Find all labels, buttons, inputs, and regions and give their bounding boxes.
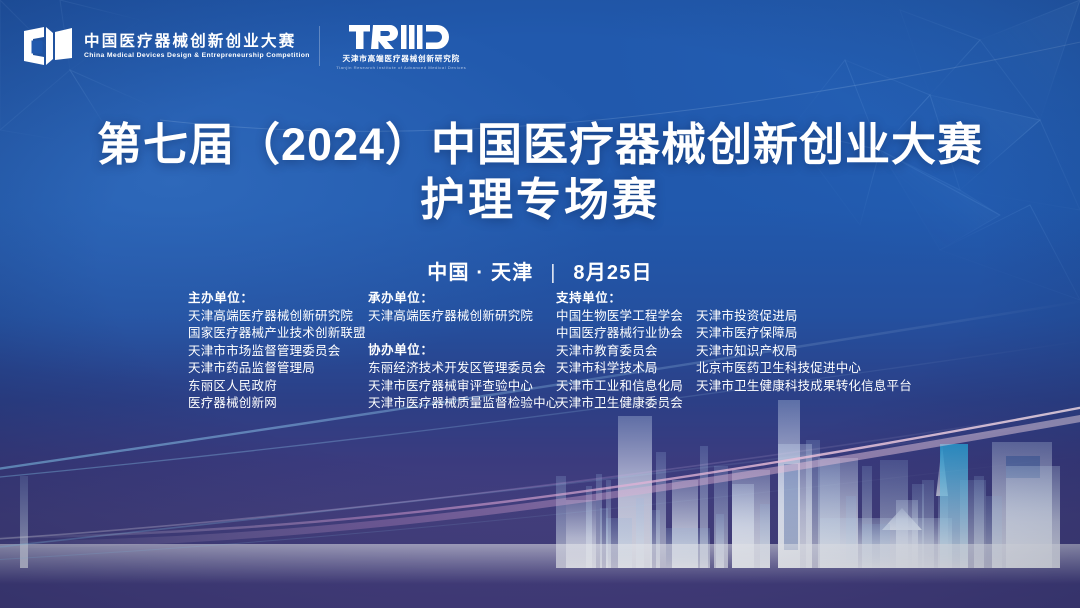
event-location: 中国 · 天津 xyxy=(427,262,533,284)
coorganizer-item: 天津市医疗器械质量监督检验中心 xyxy=(368,395,556,412)
header-logos: 中国医疗器械创新创业大赛 China Medical Devices Desig… xyxy=(22,22,466,70)
supporter-item: 中国医疗器械行业协会 xyxy=(556,325,686,342)
competition-name-cn: 中国医疗器械创新创业大赛 xyxy=(84,33,303,50)
host-item: 天津市市场监督管理委员会 xyxy=(188,343,368,360)
column-spacer xyxy=(368,325,556,342)
institute-name-cn: 天津市高端医疗器械创新研究院 xyxy=(342,55,460,63)
institute-name-en: Tianjin Research Institute of Advanced M… xyxy=(336,66,466,70)
poster-title: 第七届（2024）中国医疗器械创新创业大赛 护理专场赛 xyxy=(0,118,1080,230)
supporter-item: 天津市卫生健康委员会 xyxy=(556,395,686,412)
host-item: 天津市药品监督管理局 xyxy=(188,360,368,377)
title-line-2: 护理专场赛 xyxy=(0,171,1080,230)
supporter-item: 天津市医疗保障局 xyxy=(696,325,906,342)
host-item: 东丽区人民政府 xyxy=(188,378,368,395)
supporter-item: 天津市科学技术局 xyxy=(556,360,686,377)
competition-logo-text: 中国医疗器械创新创业大赛 China Medical Devices Desig… xyxy=(84,33,303,59)
undertaker-heading: 承办单位： xyxy=(368,290,556,307)
logo-divider xyxy=(319,26,320,66)
poster-canvas: 中国医疗器械创新创业大赛 China Medical Devices Desig… xyxy=(0,0,1080,608)
host-heading: 主办单位： xyxy=(188,290,368,307)
supporter-item: 天津市知识产权局 xyxy=(696,343,906,360)
meta-separator: | xyxy=(550,262,556,285)
event-date: 8月25日 xyxy=(573,262,652,284)
supporters-sublist-left: 支持单位： 中国生物医学工程学会 中国医疗器械行业协会 天津市教育委员会 天津市… xyxy=(556,290,686,413)
host-item: 医疗器械创新网 xyxy=(188,395,368,412)
competition-name-en: China Medical Devices Design & Entrepren… xyxy=(84,52,310,59)
coorganizer-item: 东丽经济技术开发区管理委员会 xyxy=(368,360,556,377)
open-book-window-logo-icon xyxy=(22,25,74,67)
host-item: 天津高端医疗器械创新研究院 xyxy=(188,308,368,325)
supporter-item: 北京市医药卫生科技促进中心 xyxy=(696,360,906,377)
supporter-item: 天津市卫生健康科技成果转化信息平台 xyxy=(696,378,906,395)
institute-logo: 天津市高端医疗器械创新研究院 Tianjin Research Institut… xyxy=(336,22,466,70)
undertaker-item: 天津高端医疗器械创新研究院 xyxy=(368,308,556,325)
supporter-item: 天津市工业和信息化局 xyxy=(556,378,686,395)
coorganizer-item: 天津市医疗器械审评查验中心 xyxy=(368,378,556,395)
trimd-wordmark-icon xyxy=(349,22,453,52)
supporter-item: 中国生物医学工程学会 xyxy=(556,308,686,325)
supporters-heading-spacer xyxy=(696,290,906,307)
supporters-heading: 支持单位： xyxy=(556,290,686,307)
host-item: 国家医疗器械产业技术创新联盟 xyxy=(188,325,368,342)
competition-logo: 中国医疗器械创新创业大赛 China Medical Devices Desig… xyxy=(22,25,303,67)
coorganizer-heading: 协办单位： xyxy=(368,342,556,359)
organizers-column-undertaker: 承办单位： 天津高端医疗器械创新研究院 协办单位： 东丽经济技术开发区管理委员会… xyxy=(368,290,556,413)
supporters-sublist-right: 天津市投资促进局 天津市医疗保障局 天津市知识产权局 北京市医药卫生科技促进中心… xyxy=(696,290,906,413)
organizers-column-supporters: 支持单位： 中国生物医学工程学会 中国医疗器械行业协会 天津市教育委员会 天津市… xyxy=(556,290,906,413)
organizers-block: 主办单位： 天津高端医疗器械创新研究院 国家医疗器械产业技术创新联盟 天津市市场… xyxy=(188,290,906,413)
supporter-item: 天津市投资促进局 xyxy=(696,308,906,325)
event-meta: 中国 · 天津 | 8月25日 xyxy=(0,256,1080,285)
supporter-item: 天津市教育委员会 xyxy=(556,343,686,360)
title-line-1: 第七届（2024）中国医疗器械创新创业大赛 xyxy=(0,118,1080,171)
organizers-column-host: 主办单位： 天津高端医疗器械创新研究院 国家医疗器械产业技术创新联盟 天津市市场… xyxy=(188,290,368,413)
